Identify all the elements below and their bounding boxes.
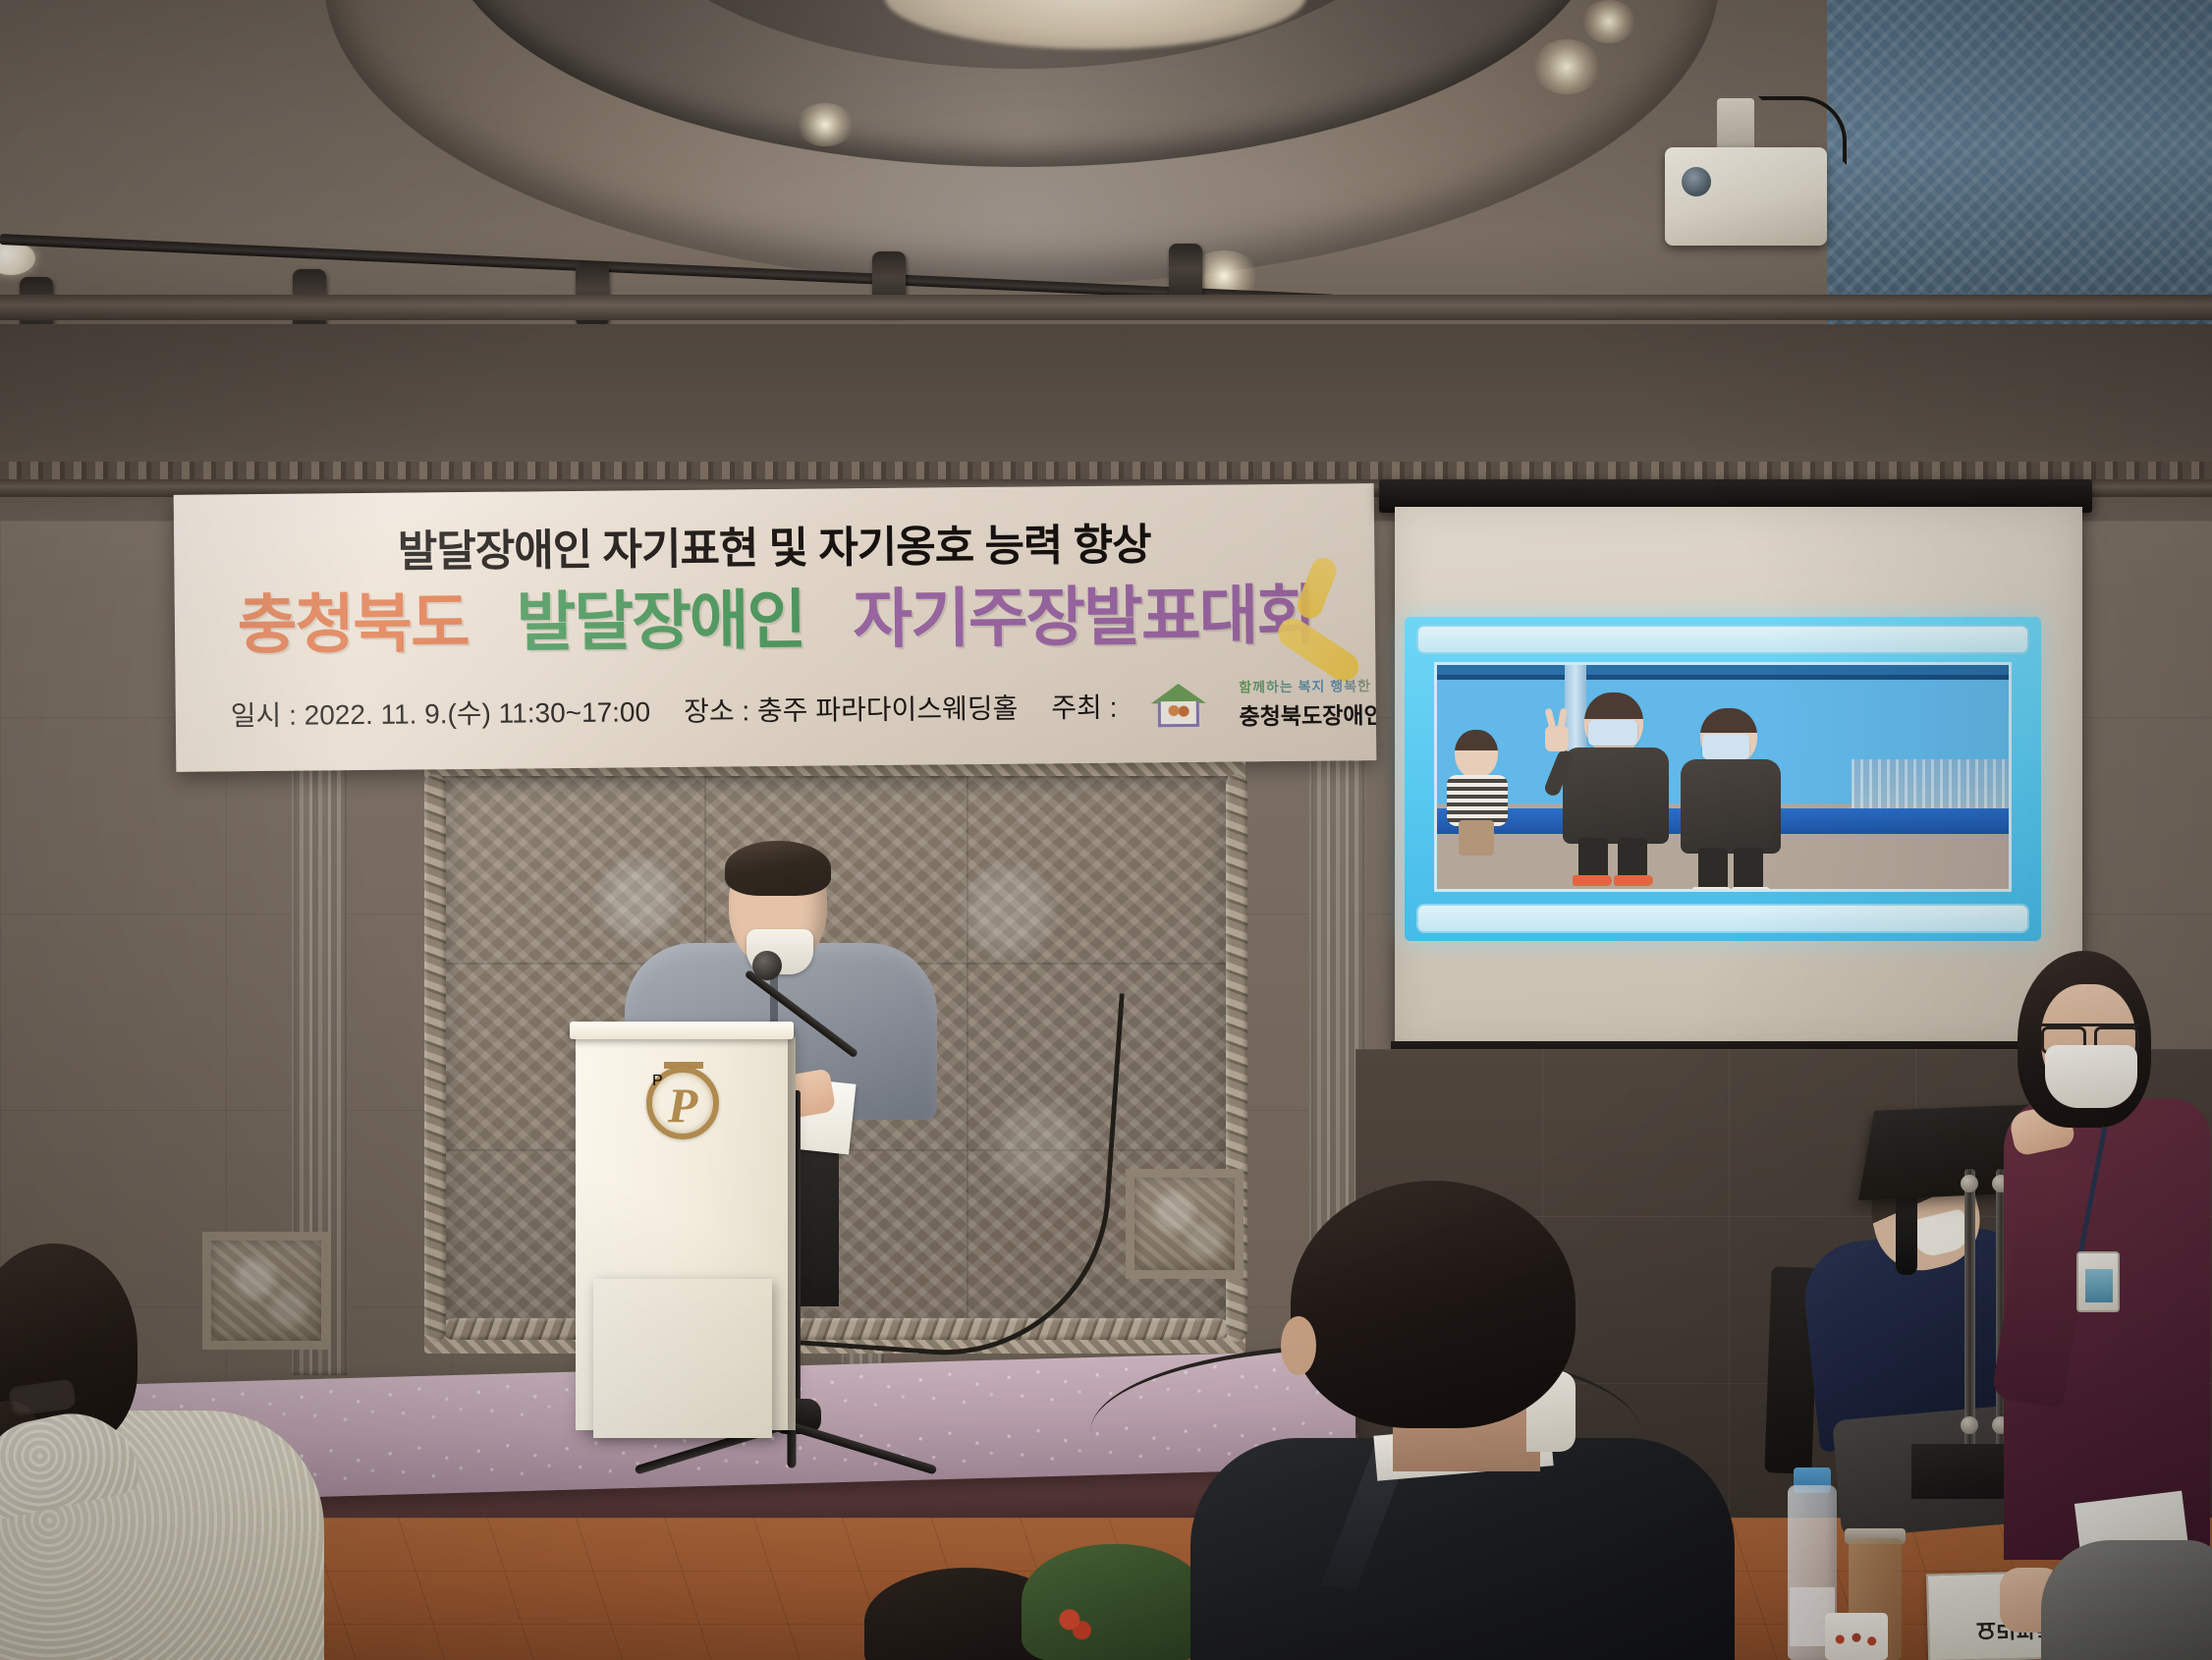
audience-man-suit	[1165, 1181, 1735, 1660]
slide-person-mask	[1588, 720, 1637, 746]
banner-place-text: 장소 : 충주 파라다이스웨딩홀	[684, 687, 1019, 729]
slide-top-bar	[1416, 625, 2029, 654]
banner-title-group: 발달장애인	[516, 583, 804, 659]
handheld-microphone-icon	[1896, 1190, 1917, 1275]
banner-title-region: 충청북도	[237, 586, 469, 661]
podium-base	[593, 1279, 772, 1438]
id-badge	[2076, 1251, 2120, 1312]
slide-person-shoe-left	[1692, 887, 1732, 892]
projection-screen	[1395, 507, 2082, 1049]
music-stand-knob-3	[1961, 1416, 1978, 1434]
ceiling-light-glow-3	[1532, 39, 1601, 94]
podium-top-surface	[570, 1022, 794, 1039]
organizer-text-block: 함께하는 복지 행복한 장애인 충청북도장애인종합복지관	[1239, 675, 1376, 731]
carved-panel-rope-left	[424, 774, 446, 1342]
banner-host-label: 주최 :	[1051, 686, 1117, 726]
slide-person-body	[1681, 759, 1781, 854]
slide-bottom-bar	[1416, 904, 2029, 933]
projector-lens-icon	[1682, 167, 1711, 196]
standing-staff-woman	[2004, 951, 2210, 1560]
recessed-downlight-1	[0, 242, 35, 275]
wallpaper-blue-panel	[1827, 0, 2212, 324]
banner-date-text: 일시 : 2022. 11. 9.(수) 11:30~17:00	[231, 691, 651, 734]
music-stand-knob-1	[1961, 1175, 1978, 1192]
man-ear	[1281, 1316, 1316, 1375]
wall-cornice-beading	[0, 462, 2212, 479]
organizer-tagline: 함께하는 복지 행복한 장애인	[1239, 675, 1376, 696]
id-badge-photo	[2085, 1269, 2113, 1302]
slide-photo-cityscape	[1852, 759, 2009, 814]
glasses-icon	[2041, 1024, 2139, 1047]
slide-person-shoe-right	[1614, 875, 1653, 886]
slide-person-shoe-left	[1573, 875, 1612, 886]
slide-person-body	[1563, 747, 1669, 844]
man-hair	[1291, 1181, 1576, 1428]
ceiling-light-glow-4	[1581, 0, 1636, 43]
event-banner: 발달장애인 자기표현 및 자기옹호 능력 향상 충청북도 발달장애인 자기주장발…	[174, 483, 1377, 772]
music-stand-pole-left	[1964, 1169, 1975, 1454]
ceiling-projector	[1665, 147, 1827, 246]
banner-title-event: 자기주장발표대회	[853, 579, 1314, 656]
conference-room-photo: 발달장애인 자기표현 및 자기옹호 능력 향상 충청북도 발달장애인 자기주장발…	[0, 0, 2212, 1660]
slide-photo-person-left	[1557, 692, 1675, 861]
slide-person-leg-left	[1578, 838, 1608, 879]
audience-person-gray-jacket	[2041, 1540, 2212, 1660]
wall-cornice-upper	[0, 295, 2212, 320]
slide-person-mask	[1702, 734, 1749, 759]
microphone-icon	[752, 951, 782, 980]
ceiling-light-glow-1	[796, 103, 855, 146]
slide-person-shoe-right	[1732, 887, 1771, 892]
slide-person-head	[1455, 730, 1498, 779]
slide-photo-horizon	[1437, 675, 2009, 680]
banner-info-row: 일시 : 2022. 11. 9.(수) 11:30~17:00 장소 : 충주…	[231, 675, 1377, 741]
slide-person-leg-left	[1698, 848, 1728, 891]
slide-photo-person-background	[1447, 730, 1512, 848]
slide-person-leg-right	[1618, 838, 1647, 879]
slide-photo-person-right	[1671, 708, 1787, 873]
organizer-name: 충청북도장애인종합복지관	[1239, 695, 1376, 731]
slide-photo	[1434, 662, 2012, 892]
podium-crown-icon	[664, 1047, 703, 1069]
hat-flower-decoration	[1053, 1603, 1094, 1644]
slide-person-striped-shirt	[1447, 775, 1508, 826]
woman-face-mask	[2045, 1045, 2137, 1108]
slide-person-hand	[1545, 726, 1569, 751]
podium-paradise-logo: P	[646, 1067, 719, 1139]
organizer-house-logo-icon	[1150, 683, 1205, 727]
microphone-tripod-leg-3	[788, 1429, 797, 1468]
slide-person-legs	[1459, 820, 1494, 856]
paper-cup-pattern	[1829, 1631, 1884, 1648]
presentation-slide	[1405, 617, 2041, 941]
house-figures-icon	[1166, 704, 1189, 722]
slide-person-leg-right	[1734, 848, 1763, 891]
banner-main-title: 충청북도 발달장애인 자기주장발표대회	[186, 562, 1365, 668]
speaker-hair	[725, 841, 831, 896]
audience-person-fleece-coat	[0, 1244, 324, 1660]
